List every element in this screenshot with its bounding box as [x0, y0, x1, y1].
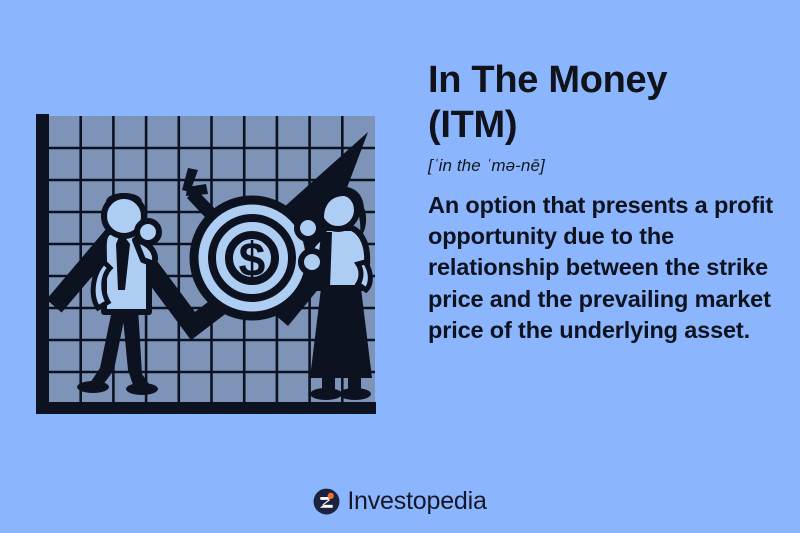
brand-name: Investopedia [347, 489, 486, 514]
chart-y-axis [36, 114, 49, 410]
page-title: In The Money (ITM) [428, 58, 780, 148]
brand-footer: Investopedia [0, 488, 800, 515]
illustration-svg: $ [30, 112, 382, 424]
pronunciation-text: [ˈin the ˈmə-nē] [428, 156, 780, 176]
term-title-line-1: In The Money [428, 59, 667, 101]
illustration-stock-chart: $ [30, 112, 382, 424]
definition-card: $ [0, 0, 800, 533]
term-title-line-2: (ITM) [428, 104, 517, 146]
chart-x-axis [36, 402, 376, 414]
dollar-sign-label: $ [239, 234, 266, 287]
definition-text-column: In The Money (ITM) [ˈin the ˈmə-nē] An o… [428, 58, 780, 346]
dollar-target-bullseye: $ [194, 200, 310, 316]
definition-text: An option that presents a profit opportu… [428, 190, 780, 347]
investopedia-logo-icon [313, 488, 340, 515]
